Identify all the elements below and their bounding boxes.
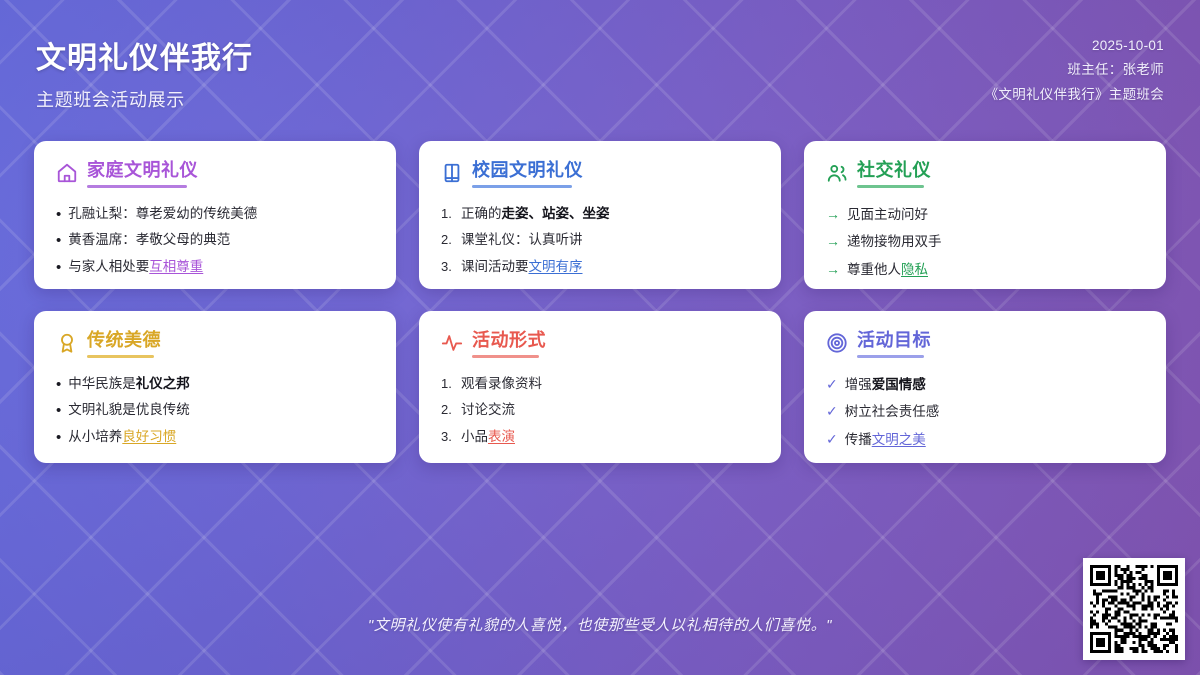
list-item-highlight-link[interactable]: 文明之美 <box>872 432 926 447</box>
list-marker-number: 3. <box>441 427 454 447</box>
list-item-text-plain: 传播 <box>845 432 872 447</box>
card-title-underline <box>857 355 924 358</box>
list-marker-check: ✓ <box>826 401 838 423</box>
users-icon <box>826 162 848 184</box>
card-title-underline <box>472 355 539 358</box>
list-item-text: 见面主动问好 <box>847 205 1144 226</box>
list-item-text-plain: 树立社会责任感 <box>845 404 940 419</box>
list-item: •文明礼貌是优良传统 <box>56 397 374 424</box>
list-item: ✓树立社会责任感 <box>826 398 1144 426</box>
card-title: 家庭文明礼仪 <box>87 159 198 182</box>
card-title-underline <box>87 355 154 358</box>
list-item: •与家人相处要互相尊重 <box>56 254 374 281</box>
list-item-text: 增强爱国情感 <box>845 375 1144 396</box>
card-title-wrap: 社交礼仪 <box>857 159 931 188</box>
list-item-text: 讨论交流 <box>461 400 759 421</box>
list-item-text: 传播文明之美 <box>845 430 1144 451</box>
list-item-text-plain: 增强 <box>845 377 872 392</box>
list-item-highlight-link[interactable]: 文明有序 <box>529 259 583 274</box>
list-marker-bullet: • <box>56 430 61 445</box>
target-icon <box>826 332 848 354</box>
card-list: •孔融让梨：尊老爱幼的传统美德•黄香温席：孝敬父母的典范•与家人相处要互相尊重 <box>56 201 374 282</box>
card-activity-format[interactable]: 活动形式1.观看录像资料2.讨论交流3.小品表演 <box>419 311 781 463</box>
card-header: 活动目标 <box>826 329 1144 358</box>
card-title-wrap: 家庭文明礼仪 <box>87 159 198 188</box>
list-marker-arrow: → <box>826 231 840 253</box>
list-item: →尊重他人隐私 <box>826 256 1144 284</box>
list-item-text: 观看录像资料 <box>461 374 759 395</box>
card-header: 家庭文明礼仪 <box>56 159 374 188</box>
list-item-highlight-link[interactable]: 表演 <box>488 429 515 444</box>
page-subtitle: 主题班会活动展示 <box>36 86 253 112</box>
list-marker-number: 2. <box>441 230 454 250</box>
activity-icon <box>441 332 463 354</box>
list-item-text-plain: 课间活动要 <box>461 259 529 274</box>
list-item: 3.小品表演 <box>441 424 759 451</box>
list-item-text-plain: 从小培养 <box>68 429 122 444</box>
card-header: 社交礼仪 <box>826 159 1144 188</box>
list-item-text-plain: 黄香温席：孝敬父母的典范 <box>68 232 230 247</box>
list-item-highlight-link[interactable]: 良好习惯 <box>122 429 176 444</box>
list-item-text: 课间活动要文明有序 <box>461 257 759 278</box>
card-title: 传统美德 <box>87 329 161 352</box>
slide-header: 文明礼仪伴我行 主题班会活动展示 2025-10-01 班主任：张老师 《文明礼… <box>0 0 1200 128</box>
slide-root: 文明礼仪伴我行 主题班会活动展示 2025-10-01 班主任：张老师 《文明礼… <box>0 0 1200 675</box>
list-marker-number: 1. <box>441 204 454 224</box>
card-list: 1.观看录像资料2.讨论交流3.小品表演 <box>441 371 759 452</box>
card-social-etiquette[interactable]: 社交礼仪→见面主动问好→递物接物用双手→尊重他人隐私 <box>804 141 1166 289</box>
header-left: 文明礼仪伴我行 主题班会活动展示 <box>36 24 253 112</box>
qr-code-image <box>1090 565 1178 653</box>
list-item-text-plain: 讨论交流 <box>461 402 515 417</box>
card-list: 1.正确的走姿、站姿、坐姿2.课堂礼仪：认真听讲3.课间活动要文明有序 <box>441 201 759 282</box>
card-activity-goal[interactable]: 活动目标✓增强爱国情感✓树立社会责任感✓传播文明之美 <box>804 311 1166 463</box>
award-icon <box>56 332 78 354</box>
list-item: 2.课堂礼仪：认真听讲 <box>441 227 759 254</box>
list-item-text-plain: 中华民族是 <box>68 376 136 391</box>
list-item-text-plain: 递物接物用双手 <box>847 234 942 249</box>
list-item-text-plain: 正确的 <box>461 206 502 221</box>
list-item-text: 尊重他人隐私 <box>847 260 1144 281</box>
card-title: 活动形式 <box>472 329 546 352</box>
list-item: •从小培养良好习惯 <box>56 424 374 451</box>
list-item-text-strong: 爱国情感 <box>872 377 926 392</box>
card-family-etiquette[interactable]: 家庭文明礼仪•孔融让梨：尊老爱幼的传统美德•黄香温席：孝敬父母的典范•与家人相处… <box>34 141 396 289</box>
list-marker-number: 2. <box>441 400 454 420</box>
list-item: 2.讨论交流 <box>441 397 759 424</box>
list-item-text-plain: 见面主动问好 <box>847 207 928 222</box>
list-marker-check: ✓ <box>826 429 838 451</box>
list-item-text-plain: 课堂礼仪：认真听讲 <box>461 232 583 247</box>
card-title-wrap: 传统美德 <box>87 329 161 358</box>
list-marker-arrow: → <box>826 259 840 281</box>
list-item-text: 小品表演 <box>461 427 759 448</box>
card-title: 校园文明礼仪 <box>472 159 583 182</box>
list-item-highlight-link[interactable]: 互相尊重 <box>149 259 203 274</box>
card-list: ✓增强爱国情感✓树立社会责任感✓传播文明之美 <box>826 371 1144 455</box>
list-item-text-plain: 观看录像资料 <box>461 376 542 391</box>
header-teacher: 班主任：张老师 <box>1067 58 1164 78</box>
card-title-underline <box>87 185 187 188</box>
list-marker-number: 3. <box>441 257 454 277</box>
list-item-text: 递物接物用双手 <box>847 232 1144 253</box>
page-title: 文明礼仪伴我行 <box>36 33 253 77</box>
list-item-text: 与家人相处要互相尊重 <box>68 257 374 278</box>
card-title-wrap: 活动形式 <box>472 329 546 358</box>
card-title: 活动目标 <box>857 329 931 352</box>
list-item: •黄香温席：孝敬父母的典范 <box>56 227 374 254</box>
list-marker-number: 1. <box>441 374 454 394</box>
card-title-wrap: 校园文明礼仪 <box>472 159 583 188</box>
list-item-text-plain: 小品 <box>461 429 488 444</box>
list-item-text: 树立社会责任感 <box>845 402 1144 423</box>
list-item: 1.正确的走姿、站姿、坐姿 <box>441 201 759 228</box>
header-meta: 2025-10-01 班主任：张老师 《文明礼仪伴我行》主题班会 <box>985 24 1164 103</box>
list-marker-bullet: • <box>56 233 61 248</box>
list-item-text-plain: 文明礼貌是优良传统 <box>68 402 190 417</box>
footer-quote: "文明礼仪使有礼貌的人喜悦，也使那些受人以礼相待的人们喜悦。" <box>0 614 1200 635</box>
list-item: •中华民族是礼仪之邦 <box>56 371 374 398</box>
list-item-text-strong: 礼仪之邦 <box>136 376 190 391</box>
header-meeting-name: 《文明礼仪伴我行》主题班会 <box>985 83 1164 103</box>
list-item: ✓传播文明之美 <box>826 426 1144 454</box>
list-item-text: 孔融让梨：尊老爱幼的传统美德 <box>68 204 374 225</box>
list-marker-bullet: • <box>56 207 61 222</box>
card-title-underline <box>472 185 572 188</box>
card-campus-etiquette[interactable]: 校园文明礼仪1.正确的走姿、站姿、坐姿2.课堂礼仪：认真听讲3.课间活动要文明有… <box>419 141 781 289</box>
card-header: 传统美德 <box>56 329 374 358</box>
qr-code[interactable] <box>1083 558 1185 660</box>
card-header: 活动形式 <box>441 329 759 358</box>
list-item-text: 正确的走姿、站姿、坐姿 <box>461 204 759 225</box>
card-list: →见面主动问好→递物接物用双手→尊重他人隐私 <box>826 201 1144 285</box>
list-item-text-plain: 尊重他人 <box>847 262 901 277</box>
list-marker-bullet: • <box>56 403 61 418</box>
list-item: →见面主动问好 <box>826 201 1144 229</box>
list-marker-check: ✓ <box>826 374 838 396</box>
list-item-text: 黄香温席：孝敬父母的典范 <box>68 230 374 251</box>
list-item-text: 中华民族是礼仪之邦 <box>68 374 374 395</box>
list-item: 1.观看录像资料 <box>441 371 759 398</box>
list-item: →递物接物用双手 <box>826 228 1144 256</box>
list-item-highlight-link[interactable]: 隐私 <box>901 262 928 277</box>
card-grid: 家庭文明礼仪•孔融让梨：尊老爱幼的传统美德•黄香温席：孝敬父母的典范•与家人相处… <box>34 141 1166 463</box>
list-item-text-plain: 孔融让梨：尊老爱幼的传统美德 <box>68 206 257 221</box>
list-item-text-strong: 走姿、站姿、坐姿 <box>502 206 610 221</box>
list-marker-arrow: → <box>826 204 840 226</box>
list-item-text: 文明礼貌是优良传统 <box>68 400 374 421</box>
list-item: ✓增强爱国情感 <box>826 371 1144 399</box>
list-item-text: 课堂礼仪：认真听讲 <box>461 230 759 251</box>
list-item: •孔融让梨：尊老爱幼的传统美德 <box>56 201 374 228</box>
list-item-text: 从小培养良好习惯 <box>68 427 374 448</box>
list-item: 3.课间活动要文明有序 <box>441 254 759 281</box>
book-icon <box>441 162 463 184</box>
card-traditional-virtue[interactable]: 传统美德•中华民族是礼仪之邦•文明礼貌是优良传统•从小培养良好习惯 <box>34 311 396 463</box>
list-marker-bullet: • <box>56 260 61 275</box>
home-icon <box>56 162 78 184</box>
header-date: 2025-10-01 <box>1092 38 1164 53</box>
card-header: 校园文明礼仪 <box>441 159 759 188</box>
card-title: 社交礼仪 <box>857 159 931 182</box>
list-item-text-plain: 与家人相处要 <box>68 259 149 274</box>
card-title-wrap: 活动目标 <box>857 329 931 358</box>
card-list: •中华民族是礼仪之邦•文明礼貌是优良传统•从小培养良好习惯 <box>56 371 374 452</box>
card-title-underline <box>857 185 924 188</box>
list-marker-bullet: • <box>56 377 61 392</box>
